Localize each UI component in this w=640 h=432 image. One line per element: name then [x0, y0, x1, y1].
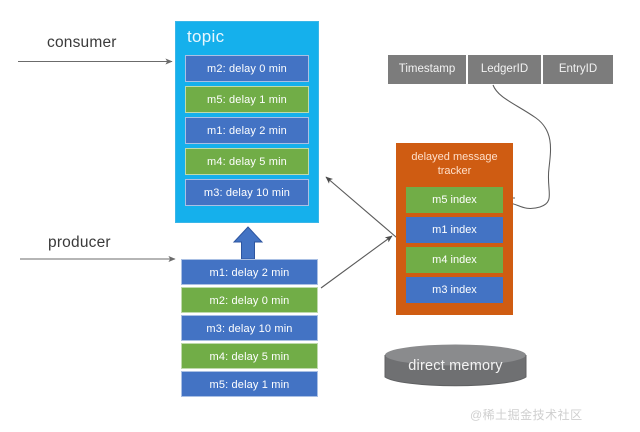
tracker-title-line1: delayed message	[396, 150, 513, 164]
topic-message-list: m2: delay 0 min m5: delay 1 min m1: dela…	[185, 55, 309, 210]
topic-message-row[interactable]: m2: delay 0 min	[185, 55, 309, 82]
queue-to-topic-arrow	[326, 177, 403, 243]
diagram-canvas: consumer producer topic m2: delay 0 min …	[0, 0, 640, 432]
queue-message-row[interactable]: m2: delay 0 min	[181, 287, 318, 313]
table-column-entryid[interactable]: EntryID	[543, 55, 613, 84]
index-table-header: Timestamp LedgerID EntryID	[388, 55, 613, 84]
watermark-text: @稀土掘金技术社区	[470, 406, 583, 423]
tracker-title-line2: tracker	[396, 164, 513, 178]
tracker-index-list: m5 index m1 index m4 index m3 index	[406, 187, 503, 307]
tracker-title: delayed message tracker	[396, 150, 513, 178]
tracker-index-row[interactable]: m5 index	[406, 187, 503, 213]
queue-message-row[interactable]: m4: delay 5 min	[181, 343, 318, 369]
topic-message-row[interactable]: m3: delay 10 min	[185, 179, 309, 206]
tracker-index-row[interactable]: m3 index	[406, 277, 503, 303]
topic-message-row[interactable]: m1: delay 2 min	[185, 117, 309, 144]
topic-title: topic	[187, 27, 224, 47]
consumer-label: consumer	[47, 34, 117, 52]
producer-label: producer	[48, 234, 111, 252]
queue-message-row[interactable]: m1: delay 2 min	[181, 259, 318, 285]
table-column-timestamp[interactable]: Timestamp	[388, 55, 468, 84]
queue-to-tracker-arrow	[321, 236, 392, 288]
tracker-index-row[interactable]: m4 index	[406, 247, 503, 273]
topic-message-row[interactable]: m5: delay 1 min	[185, 86, 309, 113]
queue-message-row[interactable]: m3: delay 10 min	[181, 315, 318, 341]
table-column-ledgerid[interactable]: LedgerID	[468, 55, 543, 84]
ingest-up-arrow-icon	[228, 226, 268, 260]
topic-message-row[interactable]: m4: delay 5 min	[185, 148, 309, 175]
queue-message-row[interactable]: m5: delay 1 min	[181, 371, 318, 397]
producer-message-queue: m1: delay 2 min m2: delay 0 min m3: dela…	[181, 259, 318, 399]
direct-memory-label: direct memory	[383, 358, 528, 374]
topic-container[interactable]: topic m2: delay 0 min m5: delay 1 min m1…	[176, 22, 318, 222]
tracker-index-row[interactable]: m1 index	[406, 217, 503, 243]
delayed-message-tracker[interactable]: delayed message tracker m5 index m1 inde…	[396, 143, 513, 315]
direct-memory-store[interactable]: direct memory	[383, 344, 528, 388]
